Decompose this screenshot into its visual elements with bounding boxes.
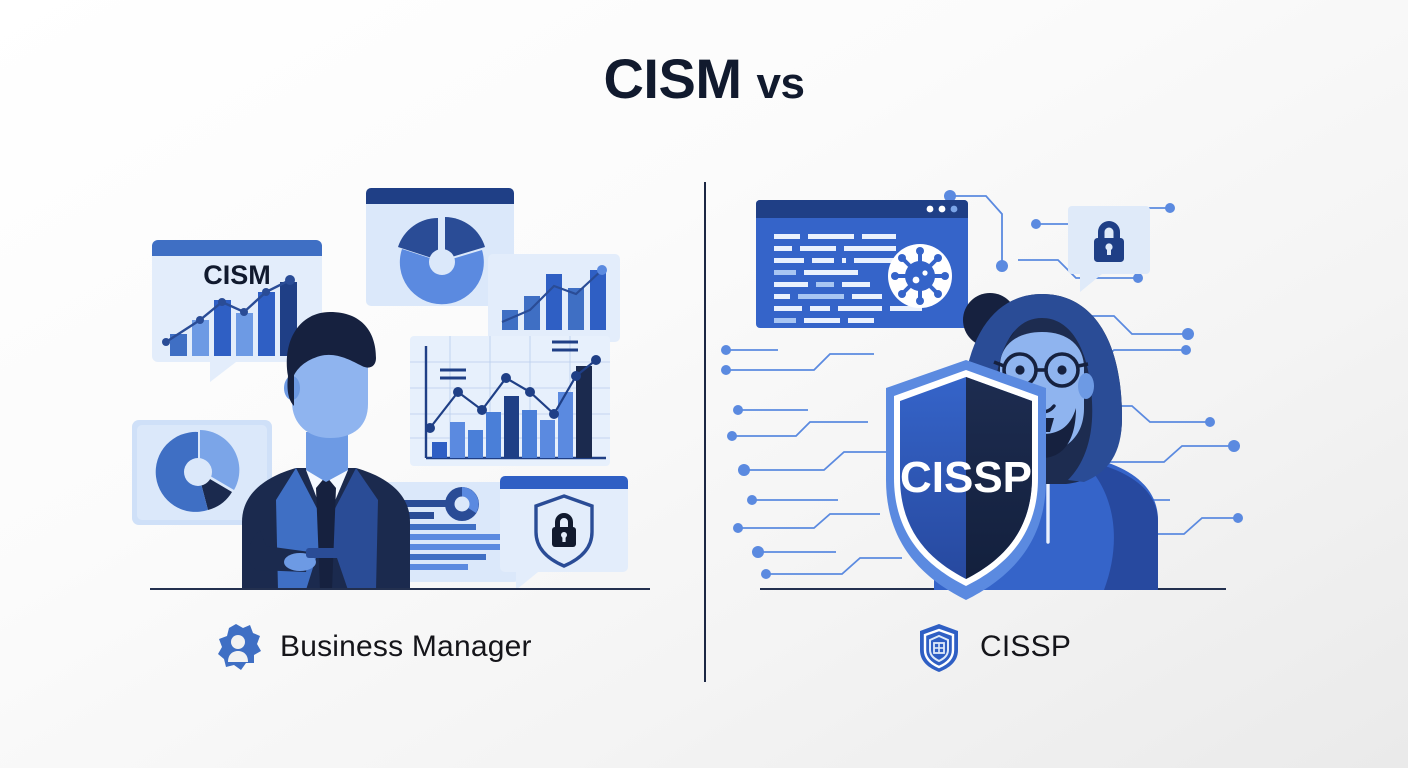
shield-label: CISSP xyxy=(900,453,1032,502)
left-caption: Business Manager xyxy=(216,622,532,672)
center-divider xyxy=(704,182,706,682)
cism-card-label: CISM xyxy=(203,260,271,290)
title-main: CISM xyxy=(603,47,741,110)
left-caption-label: Business Manager xyxy=(280,630,532,664)
window-dots xyxy=(927,206,958,213)
cism-illustration: CISM xyxy=(110,170,690,590)
left-baseline xyxy=(150,588,650,590)
page-title: CISM vs xyxy=(0,46,1408,111)
virus-icon xyxy=(888,244,952,308)
right-caption: CISSP xyxy=(916,622,1071,672)
infographic-canvas: CISM vs CISM xyxy=(0,0,1408,768)
shield-lock-card xyxy=(500,476,628,590)
title-vs: vs xyxy=(757,59,805,108)
cissp-shield-badge-icon xyxy=(916,622,962,672)
document-donut-icon xyxy=(445,487,479,521)
analytics-chart-card xyxy=(410,336,610,466)
right-caption-label: CISSP xyxy=(980,630,1071,664)
cissp-illustration: CISSP xyxy=(718,170,1298,590)
business-manager-gear-icon xyxy=(216,622,262,672)
code-terminal-window xyxy=(756,200,968,328)
